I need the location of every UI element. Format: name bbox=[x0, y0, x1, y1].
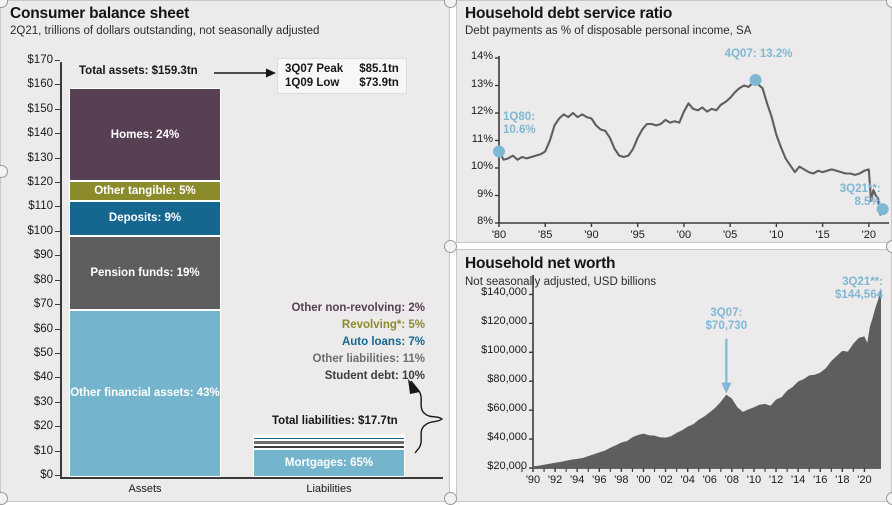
x-axis-tick-label: '20 bbox=[851, 229, 887, 241]
annotation-total-liabilities: Total liabilities: $17.7tn bbox=[272, 415, 398, 427]
callout-peak-low: 3Q07 Peak $85.1tn 1Q09 Low $73.9tn bbox=[277, 58, 407, 94]
marker-label-line1: 4Q07: 13.2% bbox=[704, 48, 814, 61]
legend-item-other-liabilities: Other liabilities: 11% bbox=[313, 353, 425, 365]
y-axis-tick-label: 12% bbox=[459, 105, 493, 117]
dsr-annotation: 1Q80:10.6% bbox=[503, 111, 536, 137]
y-axis-tick-label: $170 bbox=[9, 54, 53, 66]
callout-value: $85.1tn bbox=[359, 62, 399, 76]
category-label: Liabilities bbox=[253, 483, 405, 495]
bar-segment[interactable]: Pension funds: 19% bbox=[69, 236, 221, 310]
y-axis-line bbox=[60, 62, 62, 477]
y-axis-tick-mark bbox=[55, 280, 60, 281]
dsr-plot: 8%9%10%11%12%13%14%'80'85'90'95'00'05'10… bbox=[457, 1, 892, 244]
dsr-annotation: 3Q21**:8.5% bbox=[805, 183, 881, 209]
y-axis-tick-label: $40,000 bbox=[459, 431, 527, 443]
bar-stack-liabilities[interactable]: Mortgages: 65% bbox=[253, 434, 405, 477]
y-axis-tick-label: $160 bbox=[9, 78, 53, 90]
x-axis-line bbox=[60, 477, 443, 479]
y-axis-tick-mark bbox=[55, 182, 60, 183]
dashboard-root: Consumer balance sheet 2Q21, trillions o… bbox=[0, 0, 892, 502]
y-axis-tick-mark bbox=[55, 133, 60, 134]
callout-row: 3Q07 Peak $85.1tn bbox=[285, 62, 399, 76]
y-axis-tick-label: $140 bbox=[9, 127, 53, 139]
y-axis-tick-label: $10 bbox=[9, 445, 53, 457]
x-axis-tick-label: '20 bbox=[848, 474, 880, 486]
bar-stack-assets[interactable]: Homes: 24%Other tangible: 5%Deposits: 9%… bbox=[69, 88, 221, 477]
y-axis-tick-label: $110 bbox=[9, 200, 53, 212]
y-axis-tick-label: $80 bbox=[9, 274, 53, 286]
marker-label-line1: 1Q80: bbox=[503, 111, 536, 124]
y-axis-tick-label: $100 bbox=[9, 225, 53, 237]
selection-handle-icon[interactable] bbox=[886, 240, 892, 253]
y-axis-tick-label: 8% bbox=[459, 215, 493, 227]
y-axis-tick-mark bbox=[55, 158, 60, 159]
y-axis-tick-mark bbox=[55, 426, 60, 427]
y-axis-tick-label: $50 bbox=[9, 347, 53, 359]
marker-label-line1: 3Q21**: bbox=[805, 183, 881, 196]
marker-label-line2: $70,730 bbox=[676, 320, 776, 333]
annotation-total-assets: Total assets: $159.3tn bbox=[79, 65, 198, 77]
marker-label-line2: 10.6% bbox=[503, 124, 536, 137]
y-axis-tick-label: 11% bbox=[459, 133, 493, 145]
y-axis-tick-label: $60,000 bbox=[459, 402, 527, 414]
y-axis-tick-label: 9% bbox=[459, 188, 493, 200]
networth-plot: $20,000$40,000$60,000$80,000$100,000$120… bbox=[457, 250, 892, 503]
selection-handle-icon[interactable] bbox=[444, 492, 457, 505]
bar-segment-label: Homes: 24% bbox=[111, 129, 179, 141]
marker-label-line1: 3Q21**: bbox=[787, 276, 883, 289]
networth-annotation: 3Q07:$70,730 bbox=[676, 307, 776, 333]
x-axis-tick-label: '00 bbox=[666, 229, 702, 241]
y-axis-tick-mark bbox=[55, 353, 60, 354]
dsr-annotation: 4Q07: 13.2% bbox=[704, 48, 814, 61]
y-axis-tick-label: $150 bbox=[9, 103, 53, 115]
bar-segment[interactable]: Homes: 24% bbox=[69, 88, 221, 181]
arrow-down-3q07-icon bbox=[721, 339, 731, 394]
y-axis-tick-label: $30 bbox=[9, 396, 53, 408]
y-axis-tick-label: $0 bbox=[9, 469, 53, 481]
marker-label-line2: $144,564 bbox=[787, 289, 883, 302]
y-axis-tick-label: 13% bbox=[459, 78, 493, 90]
y-axis-tick-mark bbox=[55, 304, 60, 305]
x-axis-tick-label: '90 bbox=[573, 229, 609, 241]
y-axis-tick-label: $140,000 bbox=[459, 286, 527, 298]
callout-value: $73.9tn bbox=[359, 76, 399, 90]
callout-key: 1Q09 Low bbox=[285, 76, 359, 90]
legend-item-revolving: Revolving*: 5% bbox=[342, 319, 425, 331]
y-axis-tick-mark bbox=[55, 377, 60, 378]
y-axis-tick-mark bbox=[55, 329, 60, 330]
y-axis-tick-mark bbox=[55, 60, 60, 61]
callout-row: 1Q09 Low $73.9tn bbox=[285, 76, 399, 90]
y-axis-tick-label: $120 bbox=[9, 176, 53, 188]
networth-annotation: 3Q21**:$144,564 bbox=[787, 276, 883, 302]
x-axis-tick-label: '80 bbox=[481, 229, 517, 241]
data-point-marker[interactable] bbox=[750, 74, 762, 86]
bar-segment[interactable]: Mortgages: 65% bbox=[253, 449, 405, 477]
panel-household-net-worth: Household net worth Not seasonally adjus… bbox=[456, 249, 892, 502]
y-axis-tick-label: $80,000 bbox=[459, 373, 527, 385]
y-axis-tick-mark bbox=[55, 475, 60, 476]
callout-key: 3Q07 Peak bbox=[285, 62, 359, 76]
y-axis-tick-label: $40 bbox=[9, 371, 53, 383]
panel-consumer-balance-sheet: Consumer balance sheet 2Q21, trillions o… bbox=[0, 0, 450, 502]
y-axis-tick-label: 14% bbox=[459, 50, 493, 62]
y-axis-tick-label: $20 bbox=[9, 420, 53, 432]
y-axis-tick-label: $100,000 bbox=[459, 344, 527, 356]
x-axis-tick-label: '10 bbox=[758, 229, 794, 241]
panel-household-debt-service-ratio: Household debt service ratio Debt paymen… bbox=[456, 0, 892, 243]
y-axis-tick-label: $130 bbox=[9, 152, 53, 164]
bar-segment[interactable]: Other financial assets: 43% bbox=[69, 310, 221, 477]
y-axis-tick-label: $20,000 bbox=[459, 460, 527, 472]
y-axis-tick-mark bbox=[55, 255, 60, 256]
y-axis-tick-mark bbox=[55, 402, 60, 403]
bar-segment[interactable]: Other tangible: 5% bbox=[69, 181, 221, 201]
bar-segment-label: Deposits: 9% bbox=[109, 212, 181, 224]
bar-segment[interactable]: Deposits: 9% bbox=[69, 201, 221, 236]
bar-segment-label: Mortgages: 65% bbox=[285, 457, 373, 469]
category-label: Assets bbox=[69, 483, 221, 495]
legend-item-other-non-revolving: Other non-revolving: 2% bbox=[291, 302, 425, 314]
x-axis-tick-label: '15 bbox=[805, 229, 841, 241]
y-axis-tick-label: $60 bbox=[9, 323, 53, 335]
y-axis-tick-label: $70 bbox=[9, 298, 53, 310]
y-axis-tick-mark bbox=[55, 84, 60, 85]
legend-item-auto-loans: Auto loans: 7% bbox=[342, 336, 425, 348]
bar-segment-label: Pension funds: 19% bbox=[90, 267, 199, 279]
selection-handle-icon[interactable] bbox=[444, 240, 457, 253]
bar-segment-label: Other financial assets: 43% bbox=[70, 387, 220, 399]
selection-handle-icon[interactable] bbox=[0, 492, 8, 505]
y-axis-tick-label: $120,000 bbox=[459, 315, 527, 327]
marker-label-line1: 3Q07: bbox=[676, 307, 776, 320]
bar-segment-label: Other tangible: 5% bbox=[94, 185, 196, 197]
y-axis-tick-mark bbox=[55, 231, 60, 232]
y-axis-tick-mark bbox=[55, 451, 60, 452]
data-point-marker[interactable] bbox=[493, 146, 505, 158]
arrow-total-assets bbox=[214, 64, 276, 82]
y-axis-tick-label: 10% bbox=[459, 160, 493, 172]
brace-arrow-liabilities bbox=[406, 379, 450, 461]
marker-label-line2: 8.5% bbox=[805, 196, 881, 209]
x-axis-tick-label: '85 bbox=[527, 229, 563, 241]
x-axis-tick-label: '05 bbox=[712, 229, 748, 241]
x-axis-tick-label: '95 bbox=[620, 229, 656, 241]
y-axis-tick-mark bbox=[55, 109, 60, 110]
selection-handle-icon[interactable] bbox=[886, 492, 892, 505]
y-axis-tick-label: $90 bbox=[9, 249, 53, 261]
y-axis-tick-mark bbox=[55, 206, 60, 207]
